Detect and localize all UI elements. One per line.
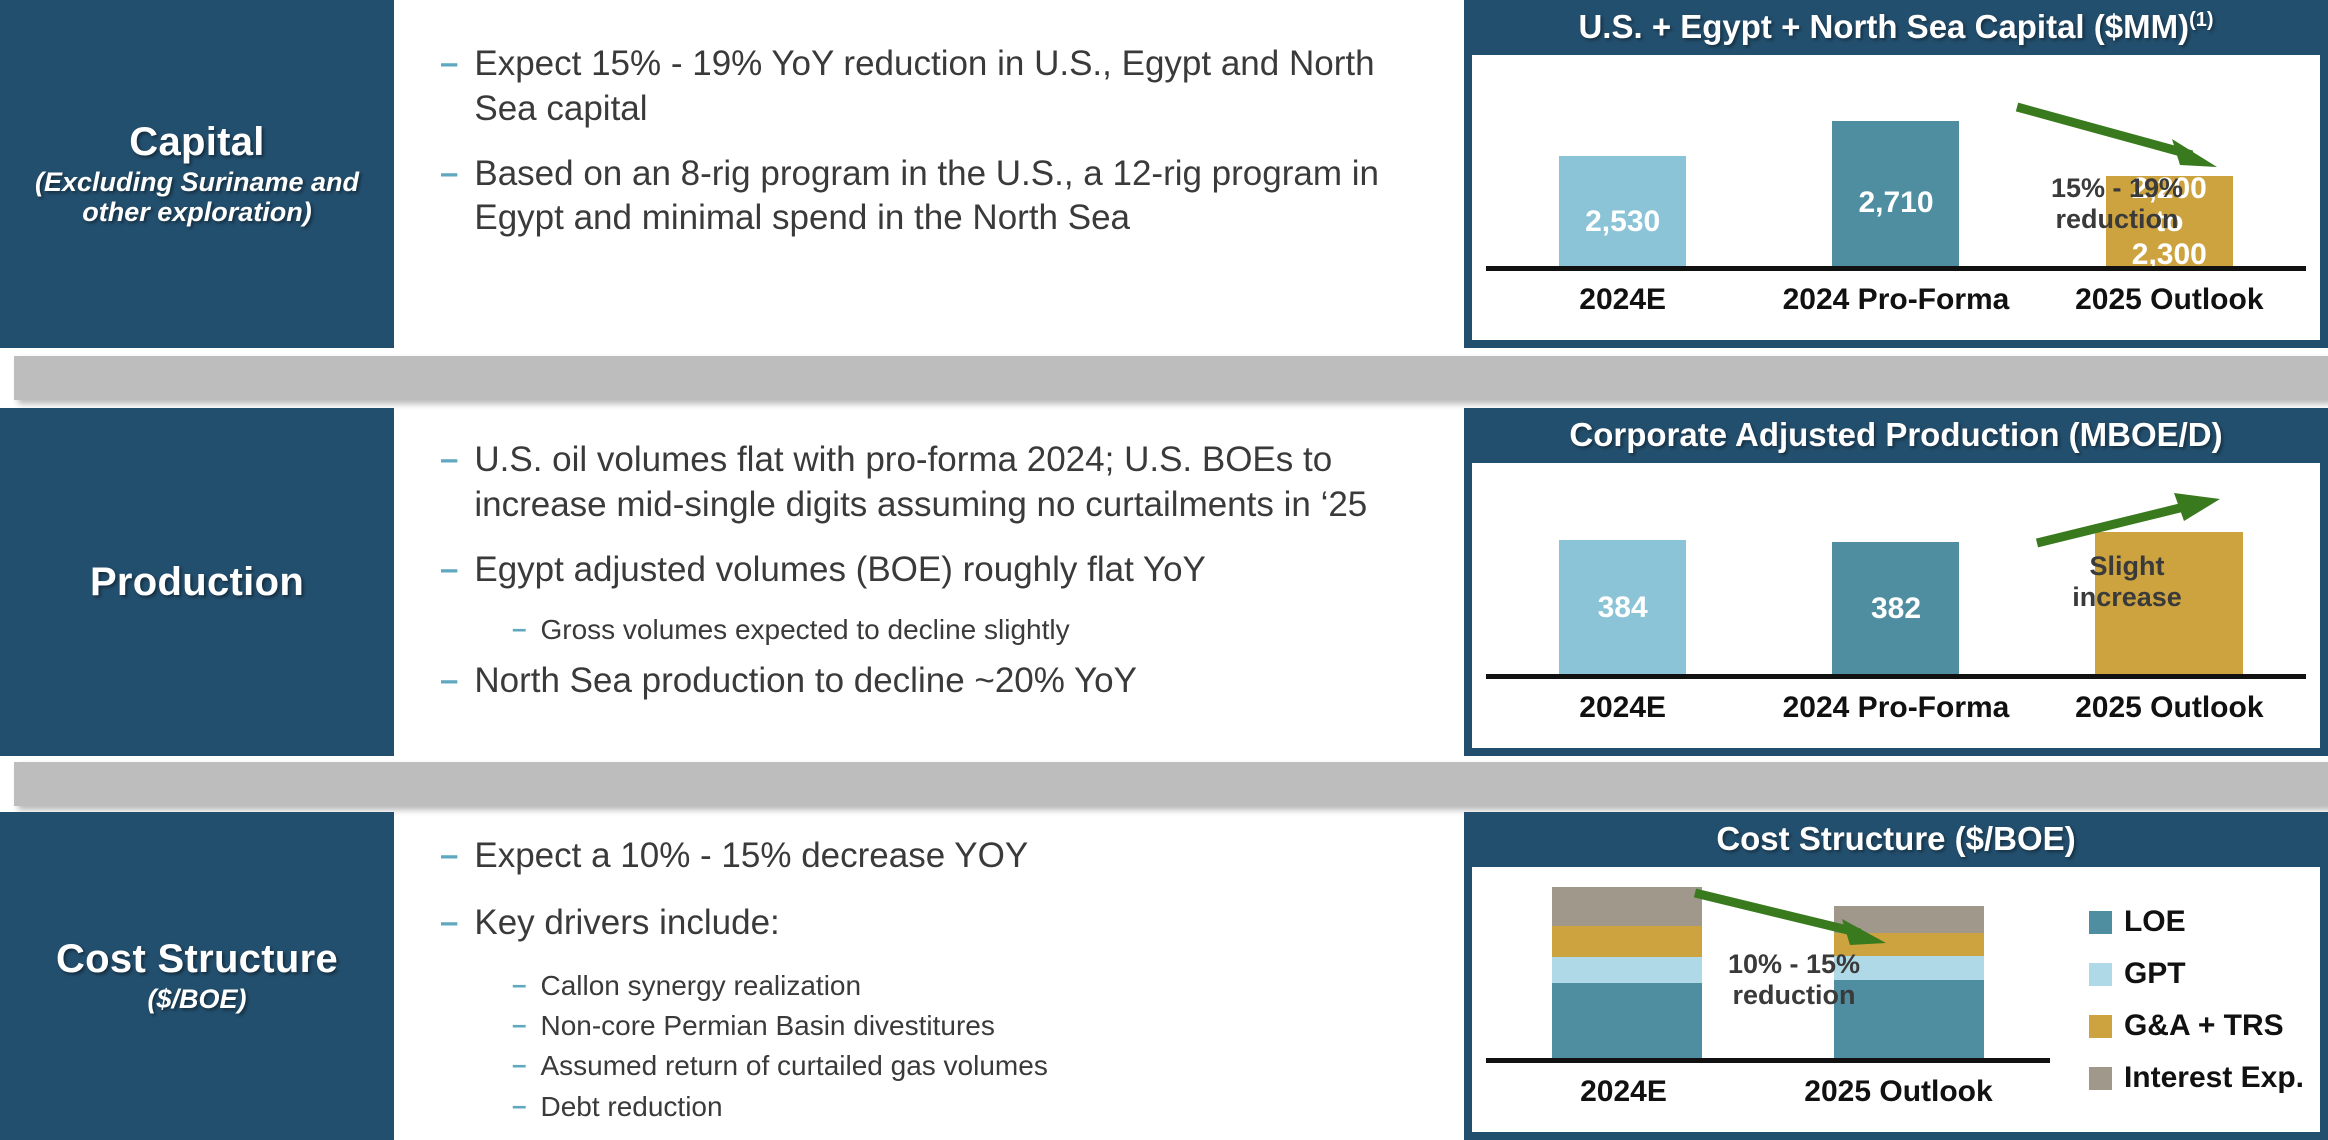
dash-bullet-icon: – <box>440 905 458 938</box>
bar-value-label: 2,710 <box>1858 186 1933 219</box>
section-label-production: Production <box>0 408 394 756</box>
section-subtitle: (Excluding Suriname and other exploratio… <box>0 167 394 227</box>
x-axis-categories-capital: 2024E 2024 Pro-Forma 2025 Outlook <box>1486 283 2306 327</box>
slide: Capital (Excluding Suriname and other ex… <box>0 0 2328 1140</box>
dash-bullet-icon: – <box>512 615 526 641</box>
bullet-text: Assumed return of curtailed gas volumes <box>540 1048 1047 1084</box>
segment-gpt <box>1552 957 1702 983</box>
legend-item: Interest Exp. <box>2089 1061 2304 1095</box>
section-title: Production <box>90 561 304 603</box>
category-label: 2024E <box>1486 691 1759 735</box>
dash-bullet-icon: – <box>440 156 458 189</box>
bullet-item: – Egypt adjusted volumes (BOE) roughly f… <box>440 548 1434 593</box>
bullets-production: – U.S. oil volumes flat with pro-forma 2… <box>396 412 1464 752</box>
up-right-arrow-icon <box>2032 491 2242 561</box>
annotation-capital: 15% - 19% reduction <box>2012 173 2222 236</box>
chart-legend: LOE GPT G&A + TRS Interest Exp. <box>2089 905 2304 1113</box>
bar-2024-pro-forma: 2,710 <box>1832 121 1959 266</box>
category-label: 2024E <box>1486 283 1759 327</box>
section-divider <box>14 356 2328 400</box>
category-label: 2024 Pro-Forma <box>1759 283 2032 327</box>
dash-bullet-icon: – <box>512 1051 526 1077</box>
section-title: Cost Structure <box>56 938 338 980</box>
category-label: 2025 Outlook <box>1761 1075 2036 1119</box>
section-subtitle: ($/BOE) <box>147 984 246 1014</box>
category-label: 2025 Outlook <box>2033 691 2306 735</box>
dash-bullet-icon: – <box>440 838 458 871</box>
legend-item: LOE <box>2089 905 2304 939</box>
bullet-item-sub: – Debt reduction <box>512 1089 1434 1125</box>
x-axis-line <box>1486 266 2306 271</box>
section-production: Production – U.S. oil volumes flat with … <box>0 408 2328 756</box>
bullet-text: Debt reduction <box>540 1089 722 1125</box>
chart-title-text: Corporate Adjusted Production (MBOE/D) <box>1569 416 2222 453</box>
x-axis-categories-production: 2024E 2024 Pro-Forma 2025 Outlook <box>1486 691 2306 735</box>
chart-title-text: Cost Structure ($/BOE) <box>1716 820 2075 857</box>
bar-column: 2,530 <box>1486 63 1759 266</box>
chart-title-capital: U.S. + Egypt + North Sea Capital ($MM)(1… <box>1472 0 2320 55</box>
bullet-item-sub: – Assumed return of curtailed gas volume… <box>512 1048 1434 1084</box>
chart-body-production: 384 382 <box>1472 463 2320 745</box>
dash-bullet-icon: – <box>512 971 526 997</box>
category-label: 2024E <box>1486 1075 1761 1119</box>
bullet-item: – Based on an 8-rig program in the U.S.,… <box>440 152 1434 242</box>
bullet-item: – Expect 15% - 19% YoY reduction in U.S.… <box>440 42 1434 132</box>
dash-bullet-icon: – <box>440 46 458 79</box>
x-axis-categories-cost-structure: 2024E 2025 Outlook <box>1486 1075 2036 1119</box>
section-title: Capital <box>129 121 264 163</box>
bullets-cost-structure: – Expect a 10% - 15% decrease YOY – Key … <box>396 816 1464 1136</box>
x-axis-line <box>1486 674 2306 679</box>
chart-title-footnote: (1) <box>2189 9 2213 31</box>
chart-body-cost-structure: 10% - 15% reduction LOE GPT <box>1472 867 2320 1129</box>
section-divider <box>14 762 2328 806</box>
bullet-item-sub: – Non-core Permian Basin divestitures <box>512 1008 1434 1044</box>
bar-value-label: 2,530 <box>1585 205 1660 238</box>
legend-swatch-loe <box>2089 911 2112 934</box>
annotation-line1: 15% - 19% <box>2012 173 2222 204</box>
bullet-text: North Sea production to decline ~20% YoY <box>474 659 1137 704</box>
bar-column: 384 <box>1486 471 1759 674</box>
bullet-text: Expect a 10% - 15% decrease YOY <box>474 834 1028 879</box>
dash-bullet-icon: – <box>440 552 458 585</box>
dash-bullet-icon: – <box>512 1011 526 1037</box>
legend-swatch-ga-trs <box>2089 1015 2112 1038</box>
section-capital: Capital (Excluding Suriname and other ex… <box>0 0 2328 348</box>
annotation-line2: reduction <box>2012 204 2222 235</box>
bullet-item-sub: – Gross volumes expected to decline slig… <box>512 612 1434 648</box>
stacked-bar-2024e <box>1552 887 1702 1058</box>
legend-label: Interest Exp. <box>2124 1061 2304 1095</box>
legend-item: GPT <box>2089 957 2304 991</box>
legend-label: G&A + TRS <box>2124 1009 2284 1043</box>
chart-body-capital: 2,530 2,710 2,200 to 2,3 <box>1472 55 2320 337</box>
bar-column: 382 <box>1759 471 2032 674</box>
section-label-capital: Capital (Excluding Suriname and other ex… <box>0 0 394 348</box>
chart-title-production: Corporate Adjusted Production (MBOE/D) <box>1472 408 2320 463</box>
bullet-text: Key drivers include: <box>474 901 779 946</box>
legend-swatch-gpt <box>2089 963 2112 986</box>
bar-2024-pro-forma: 382 <box>1832 542 1959 674</box>
legend-label: LOE <box>2124 905 2186 939</box>
legend-item: G&A + TRS <box>2089 1009 2304 1043</box>
down-right-arrow-icon <box>2012 97 2232 177</box>
bullet-text: Egypt adjusted volumes (BOE) roughly fla… <box>474 548 1206 593</box>
dash-bullet-icon: – <box>440 663 458 696</box>
bullet-text: Gross volumes expected to decline slight… <box>540 612 1069 648</box>
bar-2024e: 2,530 <box>1559 156 1686 266</box>
chart-panel-cost-structure: Cost Structure ($/BOE) <box>1464 812 2328 1140</box>
chart-panel-capital: U.S. + Egypt + North Sea Capital ($MM)(1… <box>1464 0 2328 348</box>
bullet-item-sub: – Callon synergy realization <box>512 968 1434 1004</box>
legend-swatch-interest-exp <box>2089 1067 2112 1090</box>
chart-title-text: U.S. + Egypt + North Sea Capital ($MM) <box>1578 8 2189 45</box>
segment-loe <box>1552 983 1702 1058</box>
bullet-item: – Expect a 10% - 15% decrease YOY <box>440 834 1434 879</box>
dash-bullet-icon: – <box>512 1092 526 1118</box>
chart-title-cost-structure: Cost Structure ($/BOE) <box>1472 812 2320 867</box>
bullet-text: Callon synergy realization <box>540 968 861 1004</box>
bullet-text: Based on an 8-rig program in the U.S., a… <box>474 152 1434 242</box>
category-label: 2025 Outlook <box>2033 283 2306 327</box>
bullet-item: – U.S. oil volumes flat with pro-forma 2… <box>440 438 1434 528</box>
segment-interest-exp <box>1552 887 1702 926</box>
bar-2024e: 384 <box>1559 540 1686 674</box>
category-label: 2024 Pro-Forma <box>1759 691 2032 735</box>
x-axis-line <box>1486 1058 2050 1063</box>
bullet-item: – Key drivers include: <box>440 901 1434 946</box>
bullets-capital: – Expect 15% - 19% YoY reduction in U.S.… <box>396 4 1464 344</box>
segment-ga-trs <box>1552 926 1702 957</box>
section-cost-structure: Cost Structure ($/BOE) – Expect a 10% - … <box>0 812 2328 1140</box>
legend-label: GPT <box>2124 957 2186 991</box>
chart-panel-production: Corporate Adjusted Production (MBOE/D) 3… <box>1464 408 2328 756</box>
bullet-text: Expect 15% - 19% YoY reduction in U.S., … <box>474 42 1434 132</box>
bar-value-label: 384 <box>1598 591 1648 624</box>
dash-bullet-icon: – <box>440 442 458 475</box>
bar-value-label: 382 <box>1871 592 1921 625</box>
bullet-text: U.S. oil volumes flat with pro-forma 202… <box>474 438 1434 528</box>
bullet-text: Non-core Permian Basin divestitures <box>540 1008 994 1044</box>
annotation-cost-structure: 10% - 15% reduction <box>1684 949 1904 1012</box>
annotation-line2: reduction <box>1684 980 1904 1011</box>
bullet-item: – North Sea production to decline ~20% Y… <box>440 659 1434 704</box>
section-label-cost-structure: Cost Structure ($/BOE) <box>0 812 394 1140</box>
down-right-arrow-icon <box>1690 885 1905 957</box>
bar-column: 2,710 <box>1759 63 2032 266</box>
annotation-line2: increase <box>2032 582 2222 613</box>
